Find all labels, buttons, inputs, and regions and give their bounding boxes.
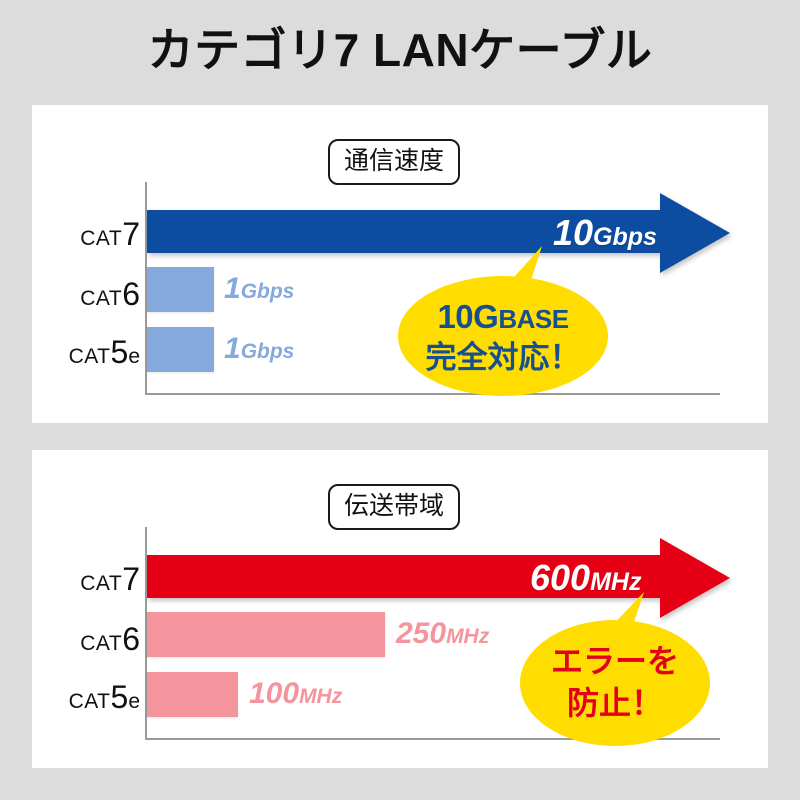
balloon-line-2: 防止！ [520, 686, 710, 721]
value-unit: MHz [299, 685, 342, 708]
cat-number: 7 [122, 216, 140, 252]
cat-number: 6 [122, 621, 140, 657]
section-tag-transmission-bandwidth: 伝送帯域 [328, 484, 460, 530]
balloon-line-1-main: 10G [437, 298, 498, 335]
bandwidth-value-cat5e: 100MHz [249, 677, 342, 711]
speed-row-label-cat5e: CAT5e [48, 334, 140, 371]
value-number: 1 [224, 332, 241, 365]
cat-word: CAT [69, 345, 111, 368]
cat-word: CAT [80, 572, 122, 595]
speed-row-label-cat6: CAT6 [48, 276, 140, 313]
value-number: 1 [224, 272, 241, 305]
cat-word: CAT [80, 632, 122, 655]
value-number: 100 [249, 677, 299, 710]
speed-value-cat6: 1Gbps [224, 272, 294, 306]
cat-number: 5 [111, 334, 129, 370]
cat-suffix: e [128, 345, 140, 368]
balloon-line-1-small: BASE [498, 304, 568, 334]
cat-word: CAT [80, 227, 122, 250]
bandwidth-bar-cat5e [147, 672, 238, 717]
balloon-bubble [398, 276, 608, 396]
cat-word: CAT [69, 690, 111, 713]
balloon-line-1: 10GBASE [398, 299, 608, 335]
value-unit: MHz [446, 625, 489, 648]
bandwidth-row-label-cat7: CAT7 [48, 561, 140, 598]
speed-bar-cat5e [147, 327, 214, 372]
value-unit: Gbps [241, 280, 295, 303]
value-number: 600 [530, 557, 590, 598]
cat-number: 7 [122, 561, 140, 597]
balloon-line-1: エラーを [520, 644, 710, 679]
page-title: カテゴリ7 LANケーブル [0, 20, 800, 80]
cat-word: CAT [80, 287, 122, 310]
section-tag-communication-speed: 通信速度 [328, 139, 460, 185]
value-unit: Gbps [241, 340, 295, 363]
value-number: 250 [396, 617, 446, 650]
bandwidth-row-label-cat5e: CAT5e [48, 679, 140, 716]
speed-value-cat7: 10Gbps [553, 212, 657, 254]
bandwidth-row-label-cat6: CAT6 [48, 621, 140, 658]
speed-row-label-cat7: CAT7 [48, 216, 140, 253]
value-unit: Gbps [593, 223, 657, 251]
speed-value-cat5e: 1Gbps [224, 332, 294, 366]
speed-chart-x-axis [145, 393, 720, 395]
cat-number: 5 [111, 679, 129, 715]
cat-suffix: e [128, 690, 140, 713]
balloon-bubble [520, 620, 710, 746]
balloon-line-2: 完全対応！ [398, 341, 608, 374]
bandwidth-value-cat6: 250MHz [396, 617, 489, 651]
cat-number: 6 [122, 276, 140, 312]
